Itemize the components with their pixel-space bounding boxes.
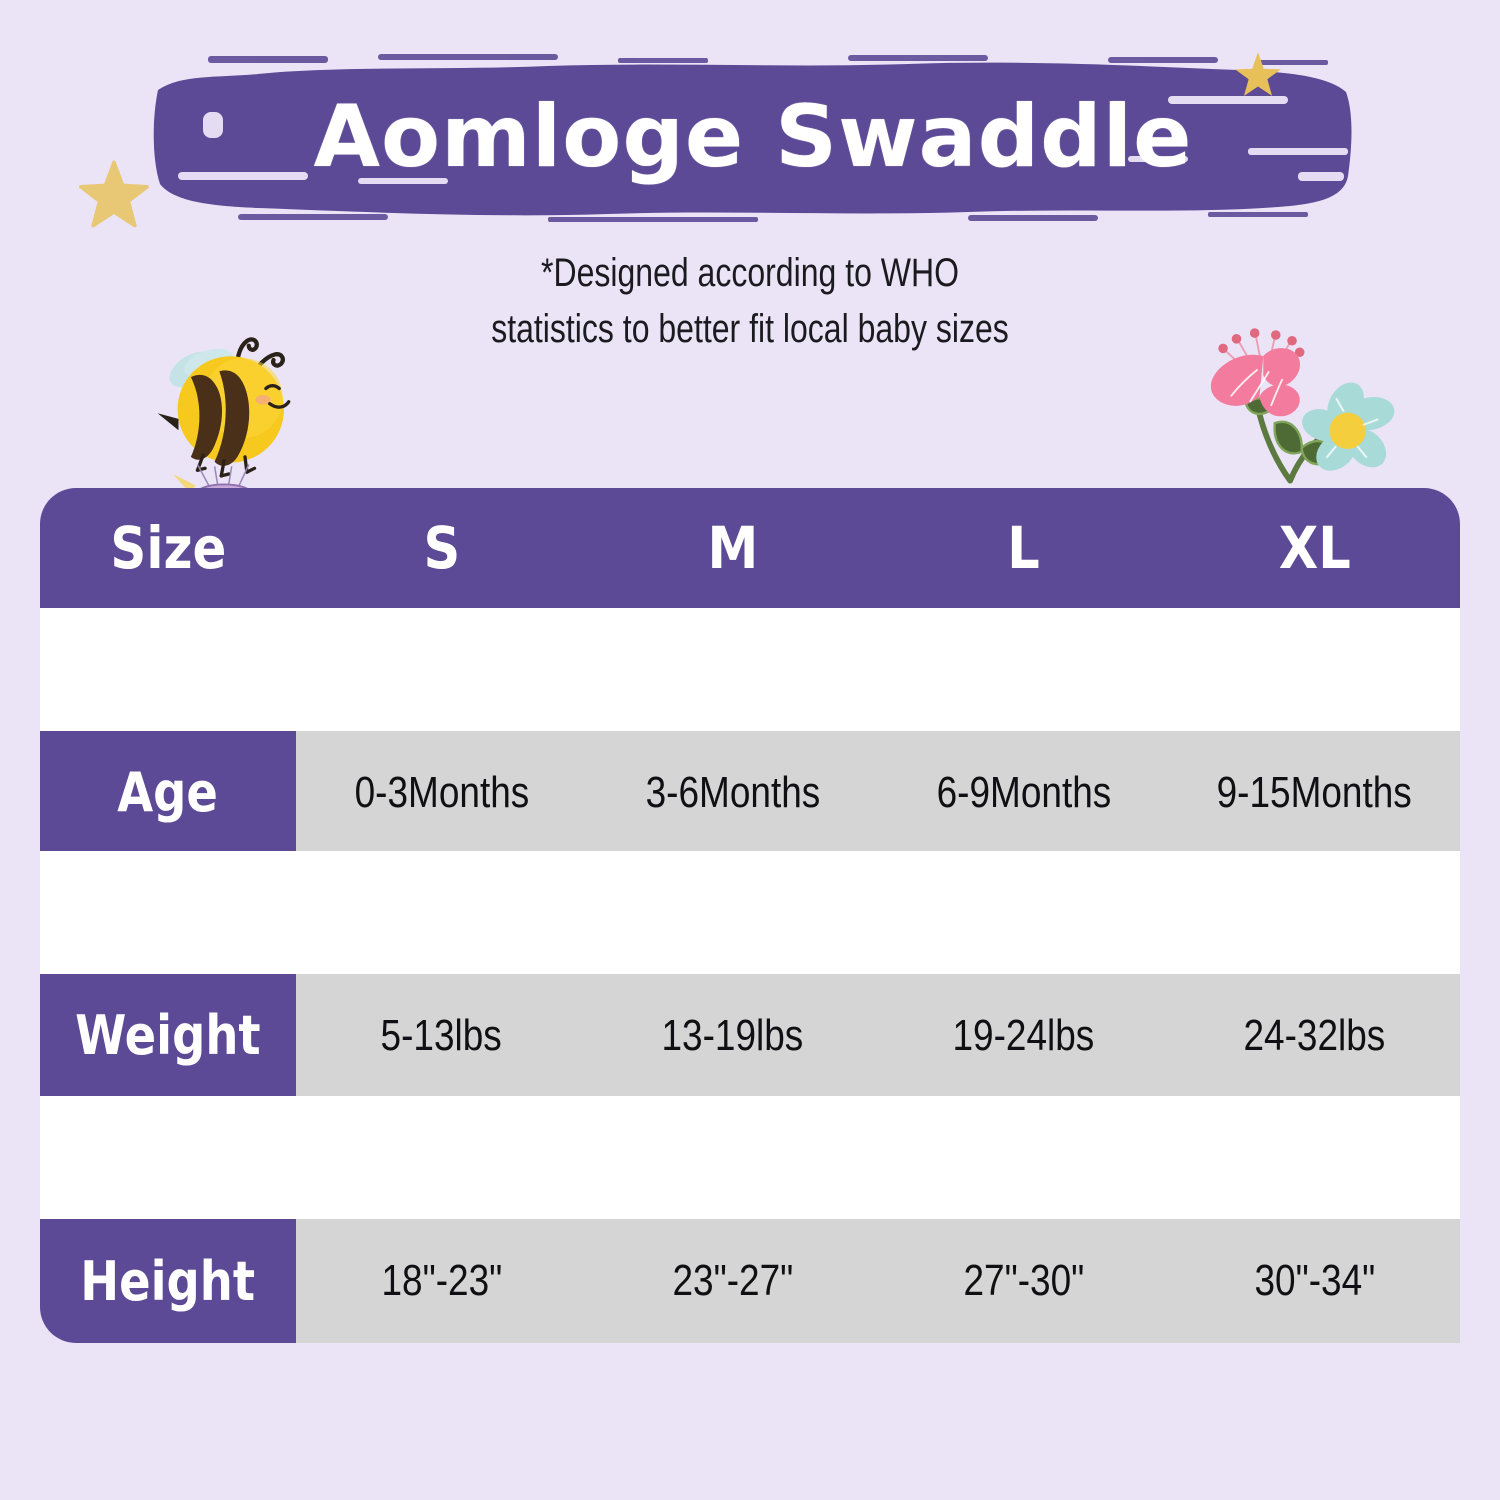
table-header-l: L [878,514,1169,582]
flowers-illustration [1180,312,1406,494]
page-title: Aomloge Swaddle [148,52,1358,222]
spacer-cell [878,851,1169,974]
cell-age-m: 3-6Months [587,731,878,854]
cell-weight-s: 5-13lbs [296,974,587,1097]
table-header-s: S [296,514,587,582]
star-icon [78,158,150,230]
table-header-row: Size S M L XL [40,488,1460,608]
spacer-cell [1169,851,1460,974]
cell-age-xl: 9-15Months [1169,731,1460,854]
row-label-weight: Weight [40,974,296,1097]
cell-height-xl: 30"-34" [1169,1219,1460,1343]
spacer-cell [878,1096,1169,1219]
spacer-cell [296,608,587,731]
spacer-cell [296,1096,587,1219]
subtitle: *Designed according to WHO statistics to… [150,245,1350,357]
spacer-cell [878,608,1169,731]
table-spacer-row [40,851,1460,974]
cell-height-s: 18"-23" [296,1219,587,1343]
title-banner: Aomloge Swaddle [148,52,1358,222]
spacer-label-cell [40,608,296,731]
cell-height-l: 27"-30" [878,1219,1169,1343]
spacer-label-cell [40,851,296,974]
cell-age-l: 6-9Months [878,731,1169,854]
row-label-height: Height [40,1219,296,1343]
table-row-age: Age 0-3Months 3-6Months 6-9Months 9-15Mo… [40,731,1460,854]
spacer-cell [587,1096,878,1219]
spacer-cell [1169,608,1460,731]
size-chart-table: Size S M L XL Age 0-3Months 3-6Months [40,488,1460,1343]
table-spacer-row [40,1096,1460,1219]
spacer-cell [587,851,878,974]
table-header-m: M [587,514,878,582]
spacer-cell [1169,1096,1460,1219]
table-row-weight: Weight 5-13lbs 13-19lbs 19-24lbs 24-32lb… [40,974,1460,1097]
cell-weight-xl: 24-32lbs [1169,974,1460,1097]
table-row-height: Height 18"-23" 23"-27" 27"-30" 30"-34" [40,1219,1460,1343]
subtitle-line-2: statistics to better fit local baby size… [150,301,1350,357]
table-header-size: Size [40,514,296,582]
cell-height-m: 23"-27" [587,1219,878,1343]
star-icon-small [1232,48,1284,100]
bee-stinger [158,413,179,430]
flower-teal-center [1329,413,1365,449]
spacer-cell [296,851,587,974]
cell-weight-m: 13-19lbs [587,974,878,1097]
bee-illustration [128,322,324,512]
spacer-label-cell [40,1096,296,1219]
cell-weight-l: 19-24lbs [878,974,1169,1097]
table-header-xl: XL [1169,514,1460,582]
table-spacer-row [40,608,1460,731]
cell-age-s: 0-3Months [296,731,587,854]
row-label-age: Age [40,731,296,854]
spacer-cell [587,608,878,731]
subtitle-line-1: *Designed according to WHO [150,245,1350,301]
